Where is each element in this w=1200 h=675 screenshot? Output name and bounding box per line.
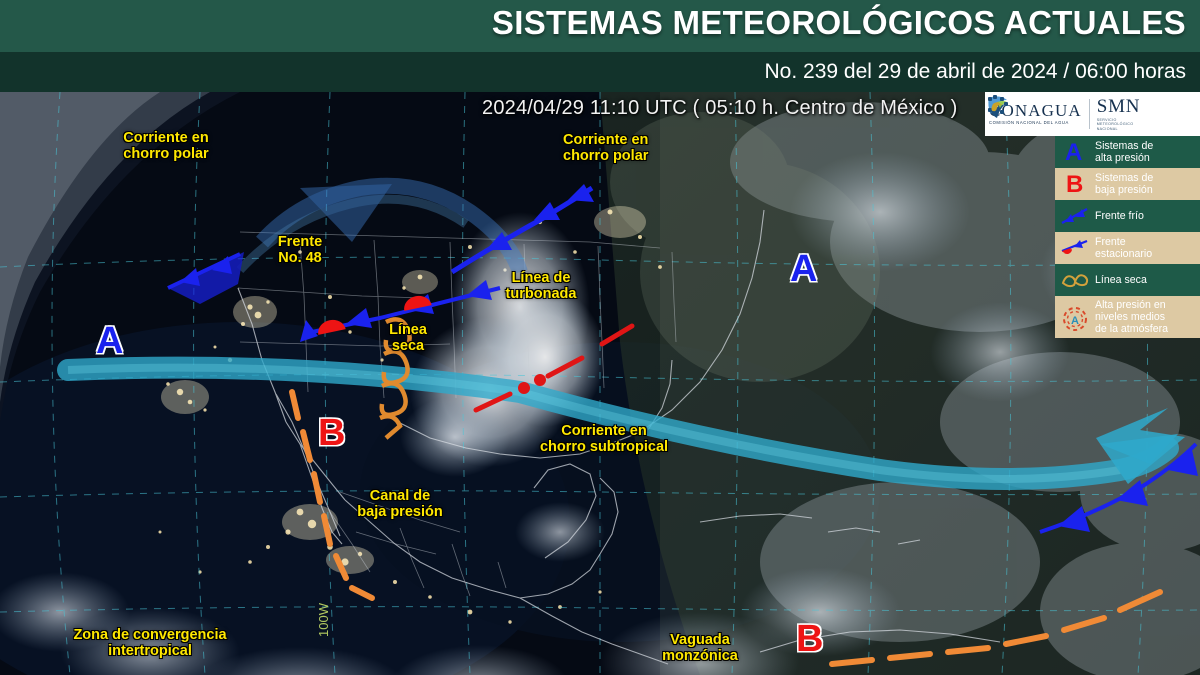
conagua-subtitle: COMISIÓN NACIONAL DEL AGUA — [989, 121, 1082, 125]
smn-name: SMN — [1097, 97, 1141, 116]
weather-bulletin-page: SISTEMAS METEOROLÓGICOS ACTUALES No. 239… — [0, 0, 1200, 675]
legend-row-stationary-front[interactable]: Frente estacionario — [1055, 232, 1200, 264]
satellite-weather-map[interactable]: 2024/04/29 11:10 UTC ( 05:10 h. Centro d… — [0, 92, 1200, 675]
legend-row-high-pressure[interactable]: A Sistemas de alta presión — [1055, 136, 1200, 168]
legend-row-dry-line[interactable]: Línea seca — [1055, 264, 1200, 296]
legend-mid-level-high-icon: A — [1060, 304, 1090, 330]
marker-high-atlantic: A — [790, 250, 817, 288]
legend-row-mid-level-high[interactable]: A Alta presión en niveles medios de la a… — [1055, 296, 1200, 338]
smn-subtitle: SERVICIO METEOROLÓGICO NACIONAL — [1097, 118, 1141, 131]
marker-low-caribbean: B — [796, 620, 823, 658]
legend-label-stationary-front: Frente estacionario — [1095, 236, 1152, 260]
map-legend: A Sistemas de alta presión B Sistemas de… — [1055, 136, 1200, 338]
map-graphics — [0, 92, 1200, 675]
bulletin-number: No. 239 del 29 de abril de 2024 / 06:00 … — [765, 60, 1186, 84]
marker-high-pacific: A — [96, 322, 123, 360]
page-title: SISTEMAS METEOROLÓGICOS ACTUALES — [492, 4, 1186, 42]
longitude-label-100w: 100W — [316, 603, 331, 637]
legend-label-cold-front: Frente frío — [1095, 210, 1144, 222]
legend-row-low-pressure[interactable]: B Sistemas de baja presión — [1055, 168, 1200, 200]
smn-mark-icon — [985, 92, 1011, 120]
legend-label-dry-line: Línea seca — [1095, 274, 1147, 286]
legend-stationary-front-icon — [1060, 235, 1090, 261]
legend-label-mid-level-high: Alta presión en niveles medios de la atm… — [1095, 299, 1168, 335]
legend-cold-front-icon — [1060, 203, 1090, 229]
legend-label-low-pressure: Sistemas de baja presión — [1095, 172, 1153, 196]
legend-low-pressure-icon: B — [1060, 171, 1090, 197]
svg-text:A: A — [1071, 315, 1079, 327]
logo-divider — [1089, 99, 1090, 129]
legend-row-cold-front[interactable]: Frente frío — [1055, 200, 1200, 232]
logo-bar: CONAGUA COMISIÓN NACIONAL DEL AGUA — [985, 92, 1200, 136]
satellite-timestamp: 2024/04/29 11:10 UTC ( 05:10 h. Centro d… — [482, 97, 957, 120]
legend-label-high-pressure: Sistemas de alta presión — [1095, 140, 1153, 164]
marker-low-mexico: B — [318, 414, 345, 452]
smn-logo: SMN SERVICIO METEOROLÓGICO NACIONAL — [1097, 97, 1141, 131]
legend-high-pressure-icon: A — [1060, 139, 1090, 165]
legend-dry-line-icon — [1060, 267, 1090, 293]
